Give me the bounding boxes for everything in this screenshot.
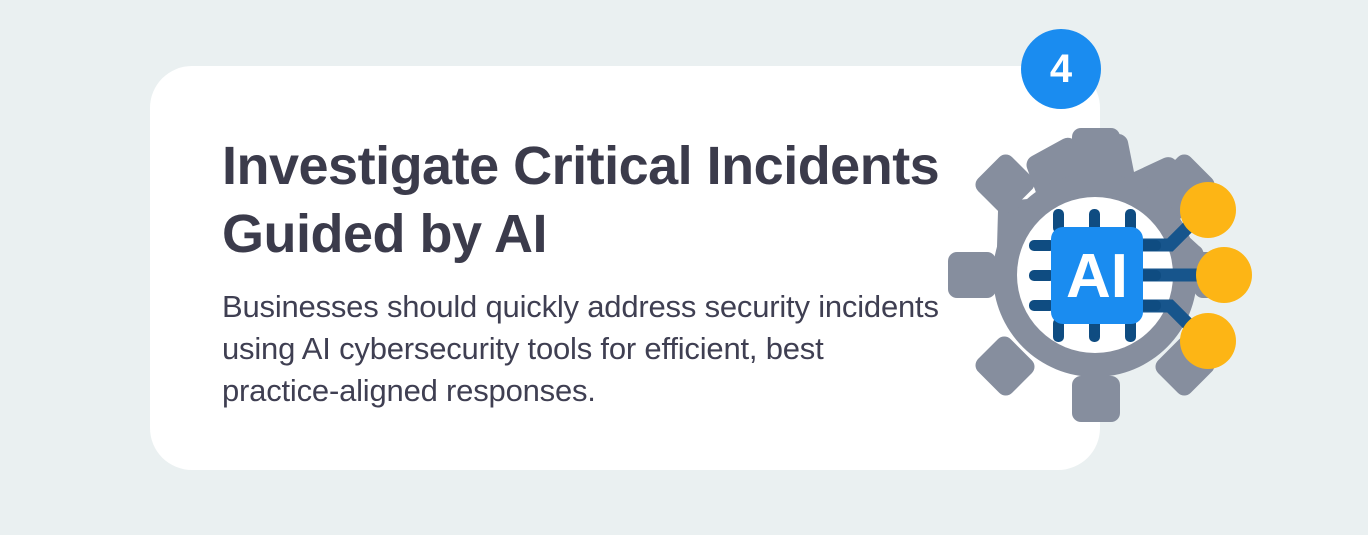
ai-chip-icon: AI [1051,227,1143,324]
circuit-node-icon [1180,182,1236,238]
infographic-slide: Investigate Critical Incidents Guided by… [0,0,1368,535]
circuit-node-icon [1180,313,1236,369]
text-block: Investigate Critical Incidents Guided by… [222,132,942,412]
ai-gear-illustration: AI [930,110,1260,440]
page-title: Investigate Critical Incidents Guided by… [222,132,942,268]
circuit-node-icon [1196,247,1252,303]
chip-label: AI [1066,242,1128,311]
step-number: 4 [1050,49,1072,89]
step-number-badge: 4 [1021,29,1101,109]
body-description: Businesses should quickly address securi… [222,286,942,412]
